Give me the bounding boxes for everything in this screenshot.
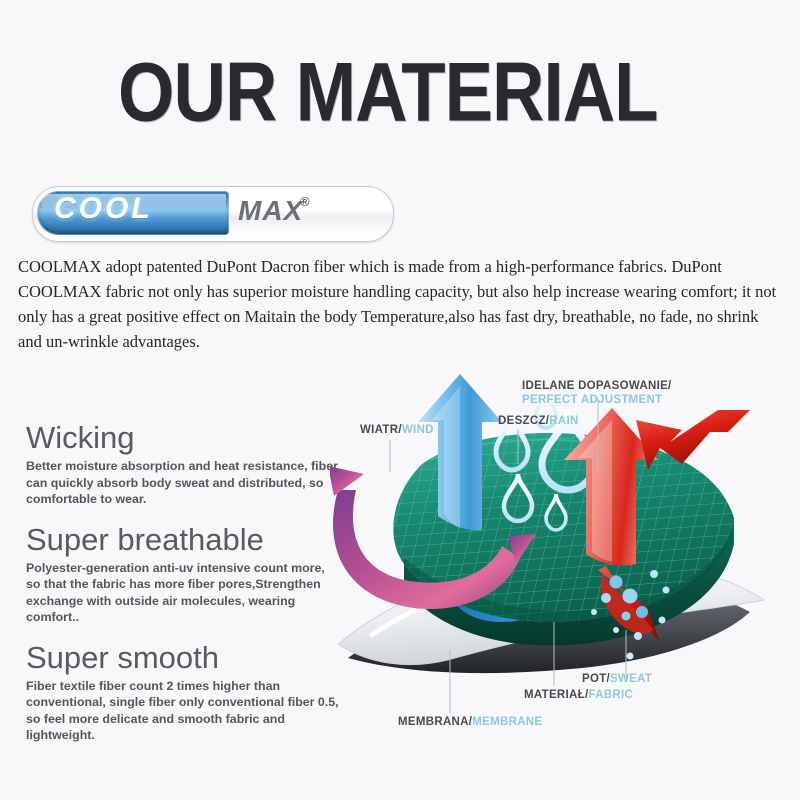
page-title: OUR MATERIAL [118, 50, 658, 133]
label-membrane-pl: MEMBRANA/ [398, 716, 472, 728]
label-wind: WIATR/WIND [360, 424, 434, 436]
material-infographic-page: OUR MATERIAL COOL MAX ® COOLMAX adopt pa… [0, 0, 800, 800]
label-sweat-en: SWEAT [610, 673, 652, 685]
feature-item-super-smooth: Super smooth Fiber textile fiber count 2… [26, 640, 342, 744]
label-perfect-adjustment-en: PERFECT ADJUSTMENT [522, 394, 662, 406]
registered-trademark-icon: ® [300, 194, 310, 209]
feature-title: Super smooth [26, 640, 342, 676]
label-membrane-en: MEMBRANE [472, 716, 542, 728]
title-band: OUR MATERIAL [0, 0, 800, 152]
label-perfect-adjustment-en-text: PERFECT ADJUSTMENT [522, 394, 662, 406]
label-wind-en: WIND [402, 424, 434, 436]
feature-item-wicking: Wicking Better moisture absorption and h… [26, 420, 342, 508]
feature-item-super-breathable: Super breathable Polyester-generation an… [26, 522, 342, 626]
label-fabric-pl: MATERIAŁ/ [524, 689, 588, 701]
intro-paragraph: COOLMAX adopt patented DuPont Dacron fib… [18, 254, 786, 354]
feature-body: Fiber textile fiber count 2 times higher… [26, 678, 342, 744]
logo-text-max: MAX [238, 195, 303, 227]
label-perfect-adjustment-pl: IDELANE DOPASOWANIE/ [522, 380, 672, 392]
label-membrane: MEMBRANA/MEMBRANE [398, 716, 542, 728]
label-fabric: MATERIAŁ/FABRIC [524, 689, 633, 701]
label-sweat: POT/SWEAT [582, 673, 652, 685]
feature-body: Better moisture absorption and heat resi… [26, 458, 342, 508]
feature-title: Wicking [26, 420, 342, 456]
label-sweat-pl: POT/ [582, 673, 610, 685]
label-rain: DESZCZ/RAIN [498, 415, 579, 427]
coolmax-logo: COOL MAX ® [32, 186, 392, 240]
feature-body: Polyester-generation anti-uv intensive c… [26, 560, 342, 626]
label-fabric-en: FABRIC [588, 689, 633, 701]
feature-list: Wicking Better moisture absorption and h… [26, 420, 342, 758]
label-rain-en: RAIN [549, 415, 578, 427]
fabric-layers-diagram: IDELANE DOPASOWANIE/ PERFECT ADJUSTMENT … [330, 368, 800, 740]
feature-title: Super breathable [26, 522, 342, 558]
logo-text-cool: COOL [54, 192, 153, 226]
label-wind-pl: WIATR/ [360, 424, 402, 436]
label-rain-pl: DESZCZ/ [498, 415, 549, 427]
